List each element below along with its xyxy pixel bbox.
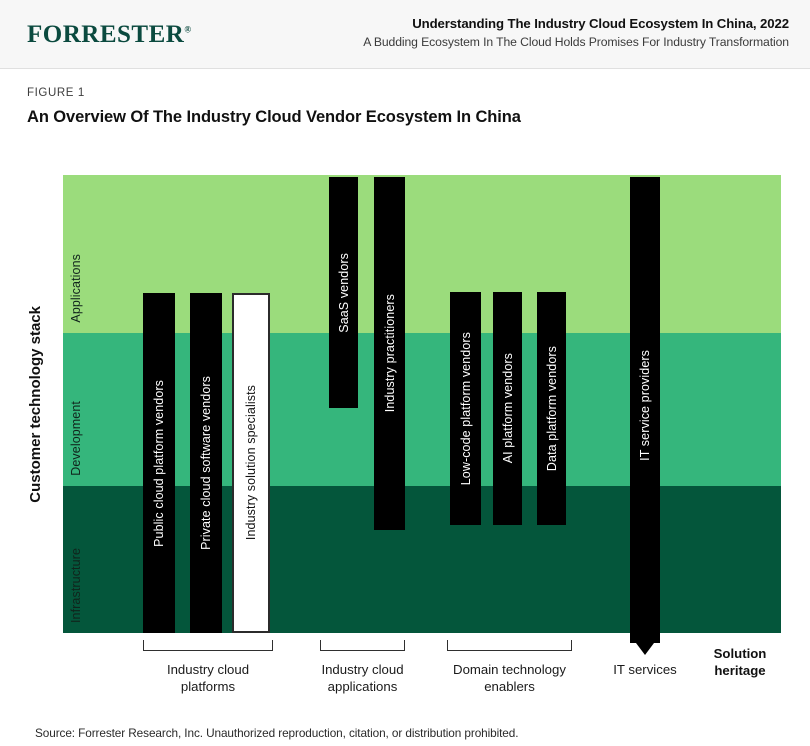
vendor-bar-label: Industry solution specialists (244, 385, 258, 540)
vendor-bar-low-code-platform-vendors[interactable]: Low-code platform vendors (450, 292, 481, 525)
forrester-logo: FORRESTER® (27, 22, 192, 47)
group-label-industry-cloud-platforms: Industry cloudplatforms (118, 661, 298, 696)
group-label-line-1: Industry cloud (118, 661, 298, 678)
vendor-bar-label: IT service providers (638, 350, 652, 461)
report-title: Understanding The Industry Cloud Ecosyst… (363, 14, 789, 33)
band-label-applications: Applications (69, 254, 83, 323)
source-note: Source: Forrester Research, Inc. Unautho… (35, 726, 518, 740)
vendor-bar-saas-vendors[interactable]: SaaS vendors (329, 177, 358, 408)
chart-plot-area: ApplicationsDevelopmentInfrastructurePub… (63, 175, 781, 633)
vendor-bar-private-cloud-software-vendors[interactable]: Private cloud software vendors (190, 293, 222, 633)
vendor-bar-ai-platform-vendors[interactable]: AI platform vendors (493, 292, 522, 525)
forrester-wordmark: FORRESTER (27, 21, 184, 48)
registered-trademark-icon: ® (184, 25, 191, 35)
group-bracket-domain-technology-enablers (447, 640, 572, 651)
x-axis-title-line-2: heritage (690, 662, 790, 679)
vendor-bar-public-cloud-platform-vendors[interactable]: Public cloud platform vendors (143, 293, 175, 633)
figure-title: An Overview Of The Industry Cloud Vendor… (27, 108, 521, 127)
vendor-bar-label: Low-code platform vendors (459, 332, 473, 485)
vendor-bar-data-platform-vendors[interactable]: Data platform vendors (537, 292, 566, 525)
arrow-stem (630, 633, 660, 643)
band-label-infrastructure: Infrastructure (69, 548, 83, 623)
vendor-bar-label: Private cloud software vendors (199, 376, 213, 550)
figure-number: FIGURE 1 (27, 87, 85, 99)
group-bracket-industry-cloud-platforms (143, 640, 273, 651)
header-title-block: Understanding The Industry Cloud Ecosyst… (363, 14, 789, 51)
vendor-bar-label: Industry practitioners (383, 294, 397, 412)
vendor-bar-label: SaaS vendors (337, 253, 351, 333)
vendor-bar-label: Data platform vendors (545, 346, 559, 471)
group-label-line-2: enablers (420, 678, 600, 695)
band-label-development: Development (69, 401, 83, 476)
y-axis-title-label: Customer technology stack (27, 306, 44, 503)
vendor-bar-label: Public cloud platform vendors (152, 380, 166, 547)
y-axis-title: Customer technology stack (24, 175, 46, 633)
vendor-bar-industry-practitioners[interactable]: Industry practitioners (374, 177, 405, 530)
group-bracket-industry-cloud-applications (320, 640, 405, 651)
x-axis-title-line-1: Solution (690, 645, 790, 662)
page-header: FORRESTER® Understanding The Industry Cl… (0, 0, 810, 69)
vendor-bar-industry-solution-specialists[interactable]: Industry solution specialists (232, 293, 270, 633)
vendor-bar-label: AI platform vendors (501, 353, 515, 463)
vendor-bar-it-service-providers[interactable]: IT service providers (630, 177, 660, 633)
down-arrow-icon (636, 643, 654, 655)
report-subtitle: A Budding Ecosystem In The Cloud Holds P… (363, 33, 789, 51)
group-label-line-2: platforms (118, 678, 298, 695)
x-axis-title: Solutionheritage (690, 645, 790, 680)
